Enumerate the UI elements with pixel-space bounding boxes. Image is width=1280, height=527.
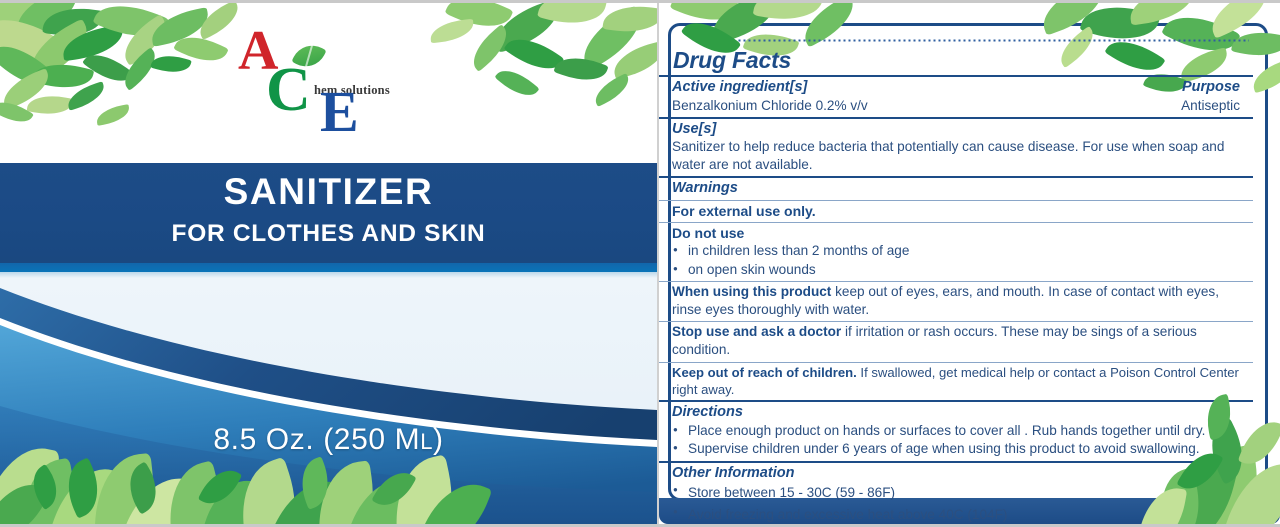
- purpose-heading: Purpose: [1170, 78, 1240, 97]
- do-not-use-list: in children less than 2 months of age on…: [672, 242, 1240, 279]
- keep-out-label: Keep out of reach of children.: [672, 365, 857, 380]
- external-use-row: For external use only.: [659, 200, 1253, 222]
- do-not-use-heading: Do not use: [672, 224, 1240, 242]
- purpose-value: Antiseptic: [1169, 97, 1240, 115]
- active-ingredient-row: Active ingredient[s] Purpose Benzalkoniu…: [659, 75, 1253, 117]
- stop-use-label: Stop use and ask a doctor: [672, 324, 841, 339]
- leaf-decoration-bottom-left: [0, 404, 480, 524]
- product-title-band: SANITIZER FOR CLOTHES AND SKIN: [0, 163, 657, 263]
- product-label: A C hem solutions E SANITIZER FOR CLOTHE…: [0, 0, 1280, 527]
- leaf-decoration-drugfacts-bottom: [1120, 354, 1280, 524]
- drug-facts-panel: Drug Facts Active ingredient[s] Purpose …: [659, 3, 1280, 524]
- list-item: in children less than 2 months of age: [672, 242, 1240, 260]
- uses-row: Use[s] Sanitizer to help reduce bacteria…: [659, 117, 1253, 177]
- do-not-use-row: Do not use in children less than 2 month…: [659, 222, 1253, 281]
- external-use-text: For external use only.: [672, 202, 1240, 220]
- drug-facts-dotted-rule: [737, 39, 1249, 42]
- logo-letter-c: C: [266, 59, 311, 121]
- warnings-heading: Warnings: [672, 179, 1240, 198]
- accent-stripe-teal: [0, 263, 657, 272]
- brand-logo: A C hem solutions E: [238, 21, 418, 133]
- when-using-row: When using this product keep out of eyes…: [659, 281, 1253, 321]
- uses-text: Sanitizer to help reduce bacteria that p…: [672, 138, 1240, 174]
- product-subtitle: FOR CLOTHES AND SKIN: [0, 220, 657, 248]
- list-item: on open skin wounds: [672, 261, 1240, 279]
- warnings-row: Warnings: [659, 176, 1253, 200]
- product-name: SANITIZER: [0, 171, 657, 213]
- uses-heading: Use[s]: [672, 120, 1240, 139]
- front-panel: A C hem solutions E SANITIZER FOR CLOTHE…: [0, 3, 657, 524]
- logo-letter-e: E: [320, 83, 359, 141]
- active-ingredient-heading: Active ingredient[s]: [672, 78, 807, 97]
- drug-facts-title: Drug Facts: [673, 47, 791, 74]
- active-ingredient-value: Benzalkonium Chloride 0.2% v/v: [672, 97, 868, 115]
- when-using-label: When using this product: [672, 284, 831, 299]
